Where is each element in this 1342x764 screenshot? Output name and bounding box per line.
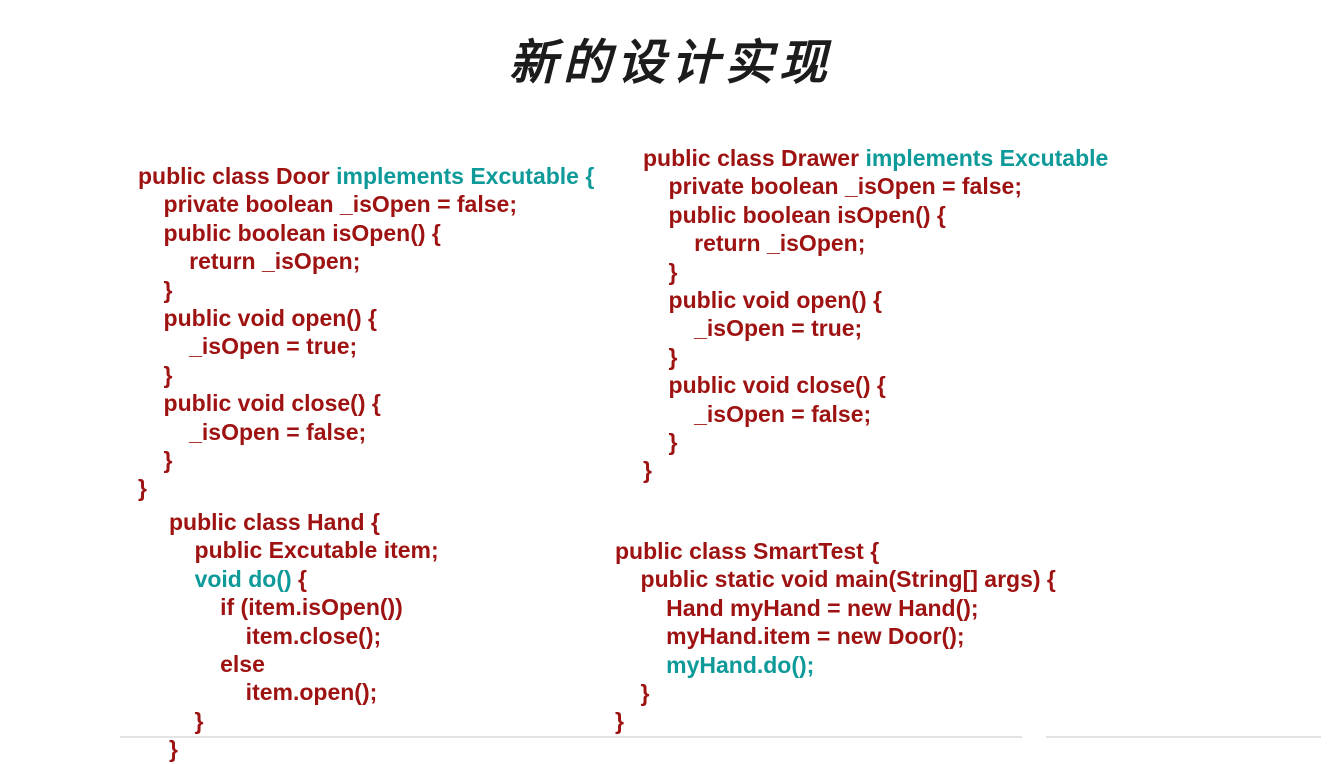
code-line: public boolean isOpen() { bbox=[643, 201, 1108, 229]
code-line: public static void main(String[] args) { bbox=[615, 565, 1056, 593]
code-line: } bbox=[138, 361, 594, 389]
code-token: public class Drawer bbox=[643, 145, 865, 171]
code-token: private boolean _isOpen = false; bbox=[138, 191, 517, 217]
code-token: _isOpen = false; bbox=[643, 401, 871, 427]
code-token: public void open() { bbox=[643, 287, 882, 313]
code-line: public class Drawer implements Excutable bbox=[643, 144, 1108, 172]
code-line: Hand myHand = new Hand(); bbox=[615, 594, 1056, 622]
code-token: } bbox=[138, 447, 173, 473]
code-block-hand: public class Hand { public Excutable ite… bbox=[169, 508, 439, 764]
code-line: return _isOpen; bbox=[643, 229, 1108, 257]
code-token: item.open(); bbox=[169, 679, 377, 705]
code-token: } bbox=[169, 708, 204, 734]
code-token: myHand.item = new Door(); bbox=[615, 623, 965, 649]
code-line: _isOpen = false; bbox=[643, 400, 1108, 428]
code-line: public Excutable item; bbox=[169, 536, 439, 564]
code-line: public void open() { bbox=[643, 286, 1108, 314]
code-line: return _isOpen; bbox=[138, 247, 594, 275]
code-line: public void open() { bbox=[138, 304, 594, 332]
code-block-door: public class Door implements Excutable {… bbox=[138, 162, 594, 503]
code-token: } bbox=[615, 708, 624, 734]
code-token: return _isOpen; bbox=[138, 248, 360, 274]
code-token: public boolean isOpen() { bbox=[643, 202, 946, 228]
code-line: public class SmartTest { bbox=[615, 537, 1056, 565]
code-line: } bbox=[615, 679, 1056, 707]
code-token: public void close() { bbox=[138, 390, 381, 416]
code-token: else bbox=[169, 651, 265, 677]
code-token: } bbox=[643, 259, 678, 285]
footer-divider-right bbox=[1046, 736, 1321, 738]
code-token: _isOpen = true; bbox=[138, 333, 357, 359]
code-line: public void close() { bbox=[643, 371, 1108, 399]
footer-divider-left bbox=[120, 736, 1022, 738]
code-token: if (item.isOpen()) bbox=[169, 594, 403, 620]
code-line: else bbox=[169, 650, 439, 678]
code-line: } bbox=[169, 735, 439, 763]
code-line: public class Hand { bbox=[169, 508, 439, 536]
code-token: public boolean isOpen() { bbox=[138, 220, 441, 246]
code-line: } bbox=[169, 707, 439, 735]
code-token: public void close() { bbox=[643, 372, 886, 398]
code-line: if (item.isOpen()) bbox=[169, 593, 439, 621]
code-token-highlight: void do() bbox=[195, 566, 292, 592]
code-token: } bbox=[643, 457, 652, 483]
code-token: public void open() { bbox=[138, 305, 377, 331]
code-line: } bbox=[138, 276, 594, 304]
code-line: public void close() { bbox=[138, 389, 594, 417]
code-line: } bbox=[643, 456, 1108, 484]
code-line: private boolean _isOpen = false; bbox=[643, 172, 1108, 200]
code-line: _isOpen = true; bbox=[643, 314, 1108, 342]
code-token: } bbox=[169, 736, 178, 762]
page-title: 新的设计实现 bbox=[0, 36, 1342, 91]
code-block-smarttest: public class SmartTest { public static v… bbox=[615, 537, 1056, 736]
code-token: public static void main(String[] args) { bbox=[615, 566, 1056, 592]
code-line: } bbox=[138, 474, 594, 502]
code-line: myHand.item = new Door(); bbox=[615, 622, 1056, 650]
code-line: _isOpen = true; bbox=[138, 332, 594, 360]
code-token: return _isOpen; bbox=[643, 230, 865, 256]
code-line: _isOpen = false; bbox=[138, 418, 594, 446]
code-token: Hand myHand = new Hand(); bbox=[615, 595, 979, 621]
code-token: } bbox=[615, 680, 650, 706]
code-token: public class Hand { bbox=[169, 509, 380, 535]
code-token: { bbox=[292, 566, 307, 592]
code-block-drawer: public class Drawer implements Excutable… bbox=[643, 144, 1108, 485]
code-line: } bbox=[615, 707, 1056, 735]
code-token: item.close(); bbox=[169, 623, 381, 649]
code-line: item.close(); bbox=[169, 622, 439, 650]
code-line: public boolean isOpen() { bbox=[138, 219, 594, 247]
code-line: public class Door implements Excutable { bbox=[138, 162, 594, 190]
code-token: _isOpen = true; bbox=[643, 315, 862, 341]
code-token: public class Door bbox=[138, 163, 336, 189]
code-line: } bbox=[643, 258, 1108, 286]
code-token: _isOpen = false; bbox=[138, 419, 366, 445]
code-line: private boolean _isOpen = false; bbox=[138, 190, 594, 218]
code-token-highlight: implements Excutable bbox=[865, 145, 1108, 171]
code-token: private boolean _isOpen = false; bbox=[643, 173, 1022, 199]
code-token: public Excutable item; bbox=[169, 537, 439, 563]
code-token: } bbox=[138, 277, 173, 303]
code-token bbox=[615, 652, 666, 678]
code-line: myHand.do(); bbox=[615, 651, 1056, 679]
code-line: void do() { bbox=[169, 565, 439, 593]
code-token-highlight: implements Excutable { bbox=[336, 163, 594, 189]
code-line: item.open(); bbox=[169, 678, 439, 706]
code-token: } bbox=[138, 475, 147, 501]
code-token: } bbox=[643, 429, 678, 455]
code-token: } bbox=[138, 362, 173, 388]
code-line: } bbox=[643, 343, 1108, 371]
code-token: } bbox=[643, 344, 678, 370]
code-token bbox=[169, 566, 195, 592]
code-line: } bbox=[643, 428, 1108, 456]
code-token-highlight: myHand.do(); bbox=[666, 652, 814, 678]
code-line: } bbox=[138, 446, 594, 474]
code-token: public class SmartTest { bbox=[615, 538, 879, 564]
